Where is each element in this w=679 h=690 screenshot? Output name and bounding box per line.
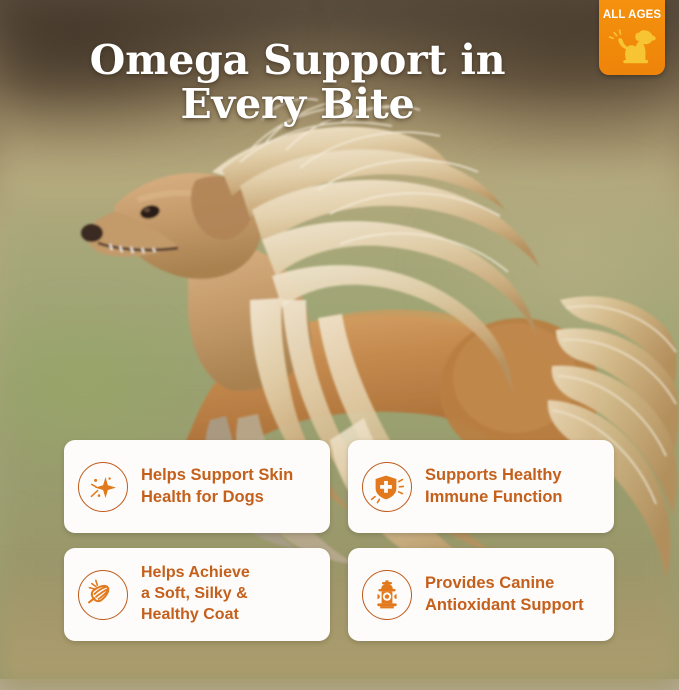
feature-card-healthy-coat[interactable]: Helps Achieve a Soft, Silky & Healthy Co… [64, 548, 330, 641]
all-ages-badge: ALL AGES [599, 0, 665, 75]
feature-card-antioxidant-support[interactable]: Provides Canine Antioxidant Support [348, 548, 614, 641]
sparkle-icon [78, 462, 128, 512]
grooming-brush-icon [78, 570, 128, 620]
feature-card-skin-health[interactable]: Helps Support Skin Health for Dogs [64, 440, 330, 533]
fire-hydrant-icon [362, 570, 412, 620]
headline-container: Omega Support in Every Bite [0, 38, 679, 127]
feature-card-label: Provides Canine Antioxidant Support [425, 573, 584, 615]
feature-card-label: Helps Achieve a Soft, Silky & Healthy Co… [141, 563, 250, 625]
badge-label: ALL AGES [603, 9, 661, 21]
feature-card-label: Helps Support Skin Health for Dogs [141, 465, 293, 507]
feature-card-immune-function[interactable]: Supports Healthy Immune Function [348, 440, 614, 533]
feature-cards: Helps Support Skin Health for Dogs Suppo… [64, 440, 614, 641]
shield-plus-icon [362, 462, 412, 512]
page-title: Omega Support in Every Bite [16, 38, 579, 127]
feature-card-label: Supports Healthy Immune Function [425, 465, 563, 507]
sitting-dog-icon [607, 23, 657, 72]
